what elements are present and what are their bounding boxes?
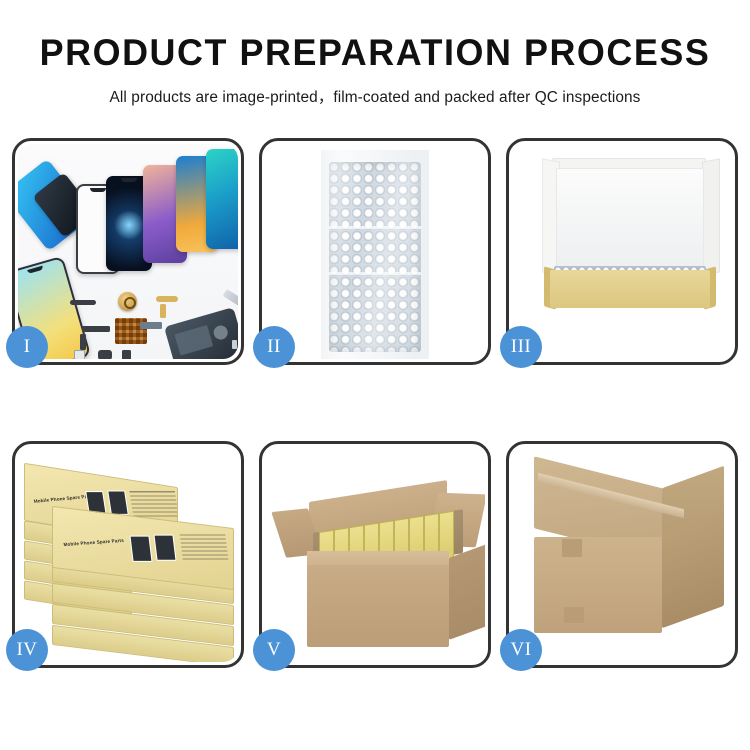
box-flap-right-icon	[702, 158, 720, 275]
screw-icon	[236, 352, 238, 359]
sim-tray-icon	[74, 350, 85, 359]
phone-back-housing-icon	[164, 307, 238, 359]
notch-icon	[90, 188, 106, 192]
photo-sealed-carton	[512, 447, 732, 662]
connector-icon	[80, 334, 86, 350]
carton-front-face-icon	[534, 537, 662, 633]
flex-cable-tail-icon	[160, 304, 166, 318]
screw-icon	[232, 340, 237, 349]
flex-cable-gold-icon	[156, 296, 178, 302]
speaker-module-icon	[98, 350, 112, 359]
step-panel-5: V	[259, 441, 491, 668]
step-badge-4: IV	[6, 629, 48, 671]
box-spec-lines	[180, 533, 229, 559]
box-label-text: Mobile Phone Spare Parts	[63, 538, 124, 547]
box-stack: Mobile Phone Spare Parts Mobile Phone Sp…	[24, 463, 238, 659]
step-badge-3: III	[500, 326, 542, 368]
header: PRODUCT PREPARATION PROCESS All products…	[0, 0, 750, 107]
step-panel-3: III	[506, 138, 738, 365]
step-badge-5: V	[253, 629, 295, 671]
carton-front-face-icon	[307, 565, 449, 647]
step-panel-6: VI	[506, 441, 738, 668]
notch-icon	[27, 266, 43, 274]
infographic-page: PRODUCT PREPARATION PROCESS All products…	[0, 0, 750, 750]
box-screen-image	[129, 536, 152, 562]
earpiece-mesh-icon	[70, 300, 96, 305]
kraft-box-base-icon	[550, 270, 710, 308]
phone-teal-gradient-icon	[206, 149, 238, 249]
photo-inner-box-with-foam	[512, 144, 732, 359]
photo-bubble-wrap	[265, 144, 485, 359]
jellyfish-glow-icon	[114, 210, 144, 240]
step-badge-2: II	[253, 326, 295, 368]
foam-sheet-icon	[556, 168, 704, 276]
photo-products-and-parts	[18, 144, 238, 359]
box-screen-image	[153, 535, 176, 561]
page-subtitle: All products are image-printed，film-coat…	[0, 85, 750, 107]
photo-open-carton-packing	[265, 447, 485, 662]
photo-stacked-retail-boxes: Mobile Phone Spare Parts Mobile Phone Sp…	[18, 447, 238, 662]
step-panel-4: Mobile Phone Spare Parts Mobile Phone Sp…	[12, 441, 244, 668]
flex-strip-icon	[82, 326, 110, 332]
wrap-seam-icon	[329, 226, 421, 229]
carton-side-face-icon	[449, 544, 485, 640]
steps-grid: I II	[12, 138, 738, 668]
page-title: PRODUCT PREPARATION PROCESS	[11, 34, 739, 71]
box-screen-image	[107, 491, 129, 515]
carton-edge-tab-icon	[564, 607, 584, 623]
wrap-seam-icon	[329, 272, 421, 275]
step-badge-6: VI	[500, 629, 542, 671]
step-panel-2: II	[259, 138, 491, 365]
step-badge-1: I	[6, 326, 48, 368]
spare-parts-group	[70, 292, 238, 359]
battery-connector-icon	[140, 322, 162, 329]
carton-edge-tab-icon	[562, 539, 582, 557]
battery-area-icon	[174, 325, 213, 356]
camera-ring-icon	[212, 324, 229, 341]
notch-icon	[121, 178, 137, 182]
camera-module-icon	[122, 350, 131, 359]
bubble-wrap-gloss	[329, 162, 421, 352]
box-spec-lines	[129, 490, 178, 516]
wireless-coil-icon	[118, 292, 137, 311]
step-panel-1: I	[12, 138, 244, 365]
